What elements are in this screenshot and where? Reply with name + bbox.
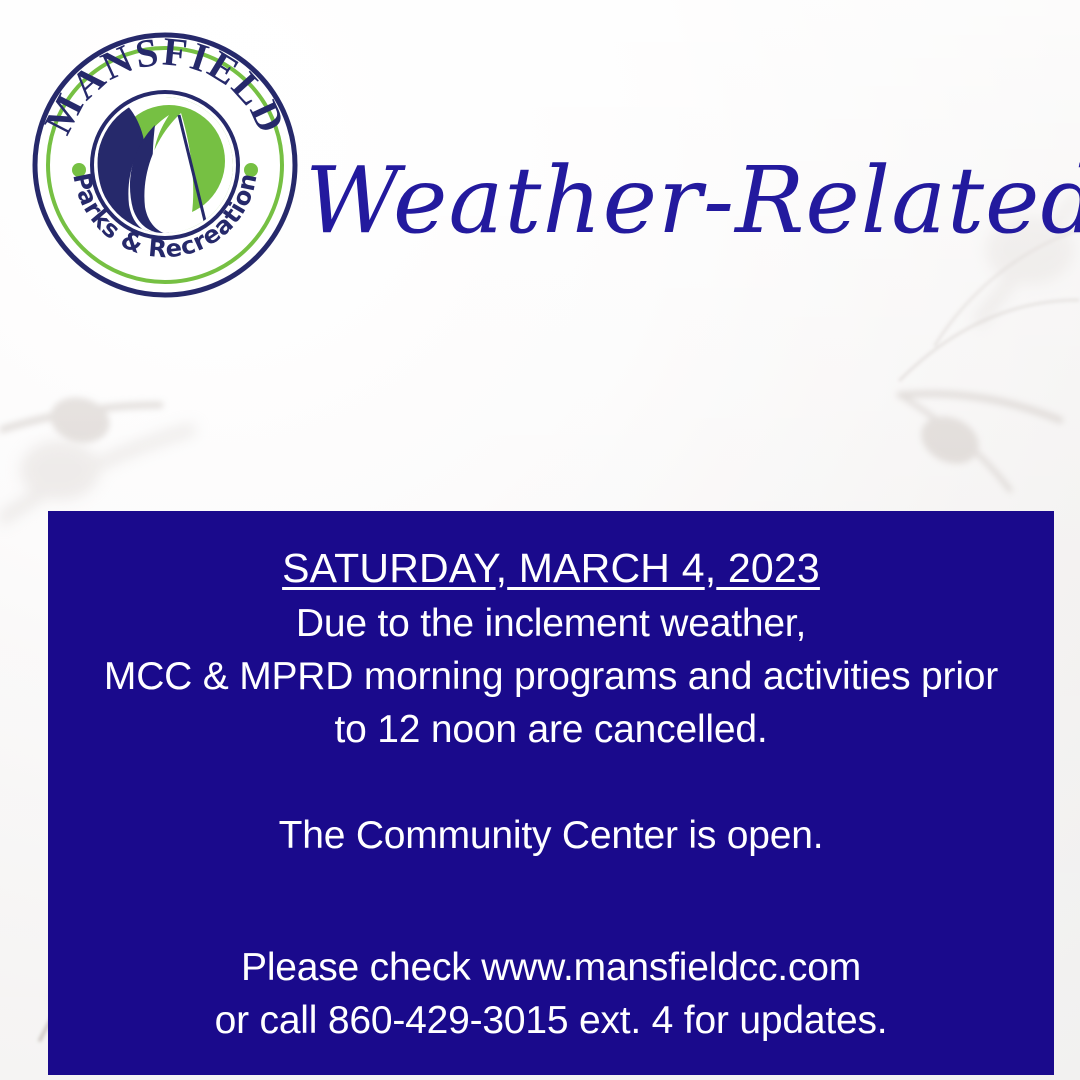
message-line-3: to 12 noon are cancelled. [58,703,1044,756]
message-spacer-2 [58,862,1044,915]
message-spacer-1 [58,756,1044,809]
message-line-1: Due to the inclement weather, [58,597,1044,650]
message-spacer-3 [58,915,1044,941]
message-line-2: MCC & MPRD morning programs and activiti… [58,650,1044,703]
message-line-community-center: The Community Center is open. [58,809,1044,862]
message-date-comma-2: , [705,545,717,591]
headline-text: Weather-Related Update [305,147,1080,254]
weather-update-poster: MANSFIELD Parks & Recreation Weather-Rel… [0,0,1080,1080]
message-date-month-day: MARCH 4 [507,545,705,591]
message-line-phone: or call 860-429-3015 ext. 4 for updates. [58,994,1044,1047]
message-date-day: SATURDAY [282,545,496,591]
headline-weather-related-update: Weather-Related Update [305,120,1065,270]
mansfield-parks-rec-logo: MANSFIELD Parks & Recreation [29,29,301,301]
message-date-year: 2023 [716,545,820,591]
message-date-comma-1: , [496,545,508,591]
message-date: SATURDAY, MARCH 4, 2023 [58,539,1044,597]
message-line-website: Please check www.mansfieldcc.com [58,941,1044,994]
message-panel: SATURDAY, MARCH 4, 2023 Due to the incle… [48,511,1054,1075]
